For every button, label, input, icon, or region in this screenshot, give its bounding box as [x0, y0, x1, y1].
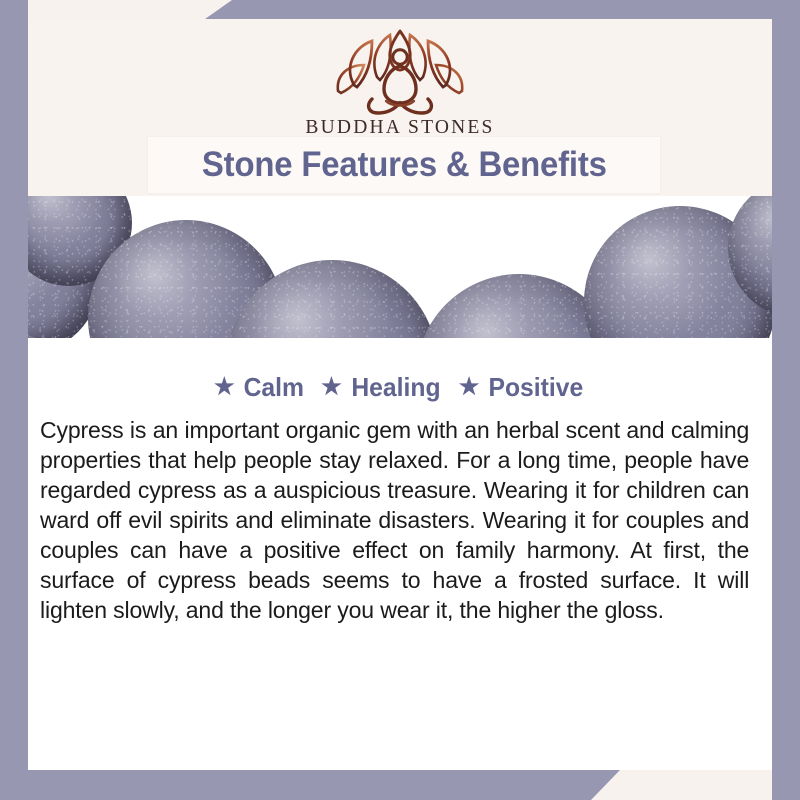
- frame-bar-right: [772, 0, 800, 800]
- brand-logo: BUDDHA STONES: [28, 27, 772, 139]
- description-panel: ★ Calm ★ Healing ★ Positive Cypress is a…: [28, 338, 772, 770]
- infographic-page: BUDDHA STONES Stone Features & Benefits …: [0, 0, 800, 800]
- brand-name: BUDDHA STONES: [305, 117, 494, 139]
- keyword-positive: Positive: [489, 372, 584, 403]
- frame-bar-top: [205, 0, 800, 19]
- keyword-healing: Healing: [351, 372, 440, 403]
- content-card: BUDDHA STONES Stone Features & Benefits …: [28, 19, 772, 770]
- star-icon: ★: [321, 375, 342, 398]
- frame-bar-left: [0, 0, 28, 800]
- star-icon: ★: [214, 375, 235, 398]
- star-icon: ★: [459, 375, 480, 398]
- lotus-meditation-figure-icon: [320, 27, 480, 115]
- keyword-calm: Calm: [243, 372, 303, 403]
- keyword-list: ★ Calm ★ Healing ★ Positive: [28, 338, 772, 403]
- header-section: BUDDHA STONES Stone Features & Benefits: [28, 19, 772, 196]
- description-paragraph: Cypress is an important organic gem with…: [40, 415, 749, 625]
- page-title-banner: Stone Features & Benefits: [148, 137, 660, 193]
- page-title: Stone Features & Benefits: [202, 145, 607, 185]
- frame-bar-bottom: [0, 770, 620, 800]
